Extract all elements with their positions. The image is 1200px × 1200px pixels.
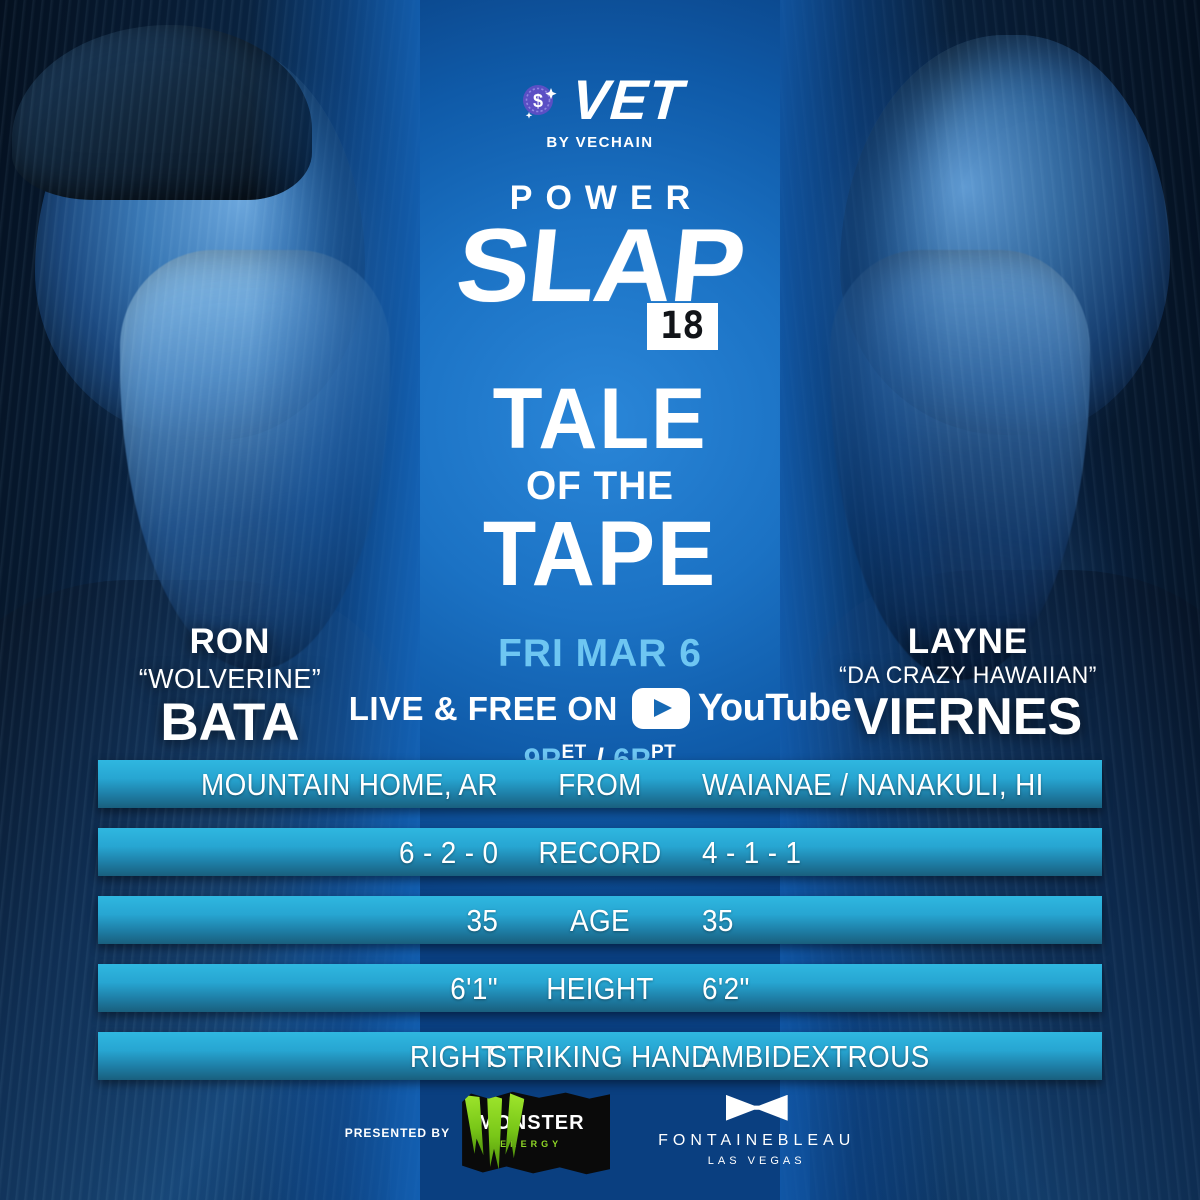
table-row: 35 AGE 35 [98, 896, 1102, 944]
fontainebleau-logo: FONTAINEBLEAU LAS VEGAS [658, 1095, 855, 1172]
dollar-coin-icon: $ [517, 78, 561, 122]
broadcast-label: LIVE & FREE ON [349, 690, 618, 728]
stat-label: HEIGHT [148, 973, 1052, 1004]
stat-right-value: WAIANAE / NANAKULI, HI [702, 769, 1044, 800]
stat-right-value: 6'2" [702, 973, 750, 1004]
monster-claw-1 [464, 1093, 486, 1156]
fighter-right-nickname: “DA CRAZY HAWAIIAN” [824, 661, 1112, 691]
stat-right-value: 35 [702, 905, 734, 936]
bowtie-icon [726, 1095, 788, 1121]
fighter-left-last-name: BATA [90, 696, 370, 751]
fighter-left-nickname: “WOLVERINE” [96, 661, 365, 696]
presented-by-label: PRESENTED BY [345, 1126, 450, 1140]
fighter-left-first-name: RON [90, 624, 370, 661]
tale-of-the-tape-table: MOUNTAIN HOME, AR FROM WAIANAE / NANAKUL… [98, 760, 1102, 1100]
power-slap-logo: POWER SLAP 18 [0, 181, 1200, 319]
footer-sponsors: PRESENTED BY MONSTER ENERGY FONTAINEBLEA… [0, 1090, 1200, 1176]
fighter-right-last-name: VIERNES [818, 691, 1118, 745]
vet-logo-word: VET [570, 72, 686, 128]
page-title-line3: TAPE [30, 511, 1170, 598]
svg-text:$: $ [533, 91, 543, 111]
venue-city: LAS VEGAS [658, 1152, 855, 1172]
table-row: 6 - 2 - 0 RECORD 4 - 1 - 1 [98, 828, 1102, 876]
poster-root: $ VET BY VECHAIN POWER SLAP 18 TALE OF T… [0, 0, 1200, 1200]
power-slap-word-slap: SLAP [0, 213, 1200, 319]
venue-name: FONTAINEBLEAU [658, 1131, 855, 1152]
vet-logo: $ VET [0, 72, 1200, 128]
table-row: MOUNTAIN HOME, AR FROM WAIANAE / NANAKUL… [98, 760, 1102, 808]
monster-claw-2 [487, 1094, 502, 1170]
monster-claw-3 [502, 1093, 525, 1158]
table-row: RIGHT STRIKING HAND AMBIDEXTROUS [98, 1032, 1102, 1080]
youtube-play-icon [632, 688, 690, 729]
event-number-badge: 18 [647, 303, 718, 350]
stat-right-value: AMBIDEXTROUS [702, 1041, 930, 1072]
stat-right-value: 4 - 1 - 1 [702, 837, 801, 868]
monster-claw-icon [468, 1094, 528, 1172]
presented-by-block: PRESENTED BY MONSTER ENERGY [345, 1090, 610, 1176]
table-row: 6'1" HEIGHT 6'2" [98, 964, 1102, 1012]
stat-label: RECORD [148, 837, 1052, 868]
monster-energy-logo: MONSTER ENERGY [462, 1090, 610, 1176]
stat-label: AGE [148, 905, 1052, 936]
fighter-name-right: LAYNE “DA CRAZY HAWAIIAN” VIERNES [818, 624, 1118, 744]
page-title-line1: TALE [30, 379, 1170, 461]
vet-logo-subtitle: BY VECHAIN [0, 134, 1200, 151]
fighter-name-left: RON “WOLVERINE” BATA [90, 624, 370, 750]
fighter-right-first-name: LAYNE [818, 624, 1118, 661]
